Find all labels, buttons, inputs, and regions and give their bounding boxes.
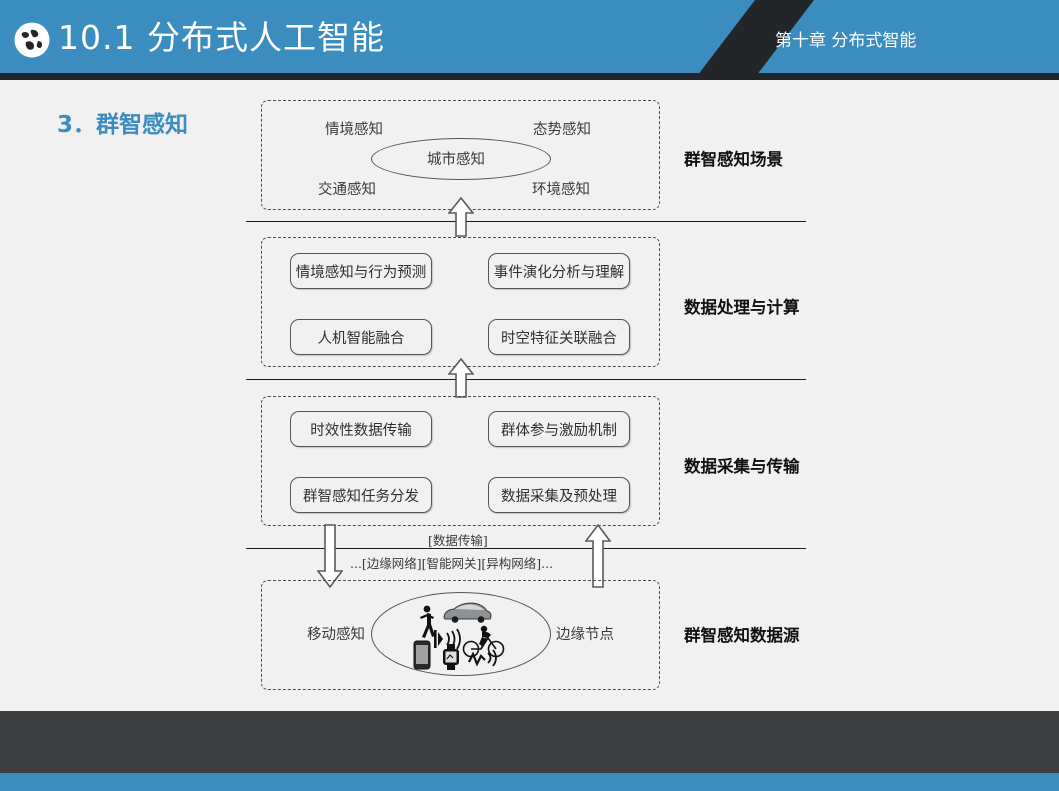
arrow-up-to-processing	[448, 358, 474, 398]
collection-box-4[interactable]: 数据采集及预处理	[488, 477, 630, 513]
signal-wave-icon	[468, 648, 502, 668]
scene-label-city: 城市感知	[427, 148, 485, 169]
processing-box-1[interactable]: 情境感知与行为预测	[290, 253, 432, 289]
source-label-mobile-sensing: 移动感知	[307, 623, 365, 644]
arrow-up-from-source	[585, 524, 611, 588]
scene-label-environment: 环境感知	[532, 178, 590, 199]
band-label-source: 群智感知数据源	[684, 622, 800, 646]
footer-dark-band	[0, 711, 1059, 773]
band-divider-2	[246, 379, 806, 380]
transport-label-top: [数据传输]	[428, 530, 488, 549]
smartwatch-icon	[441, 644, 461, 670]
collection-box-1[interactable]: 时效性数据传输	[290, 411, 432, 447]
collection-box-3[interactable]: 群智感知任务分发	[290, 477, 432, 513]
slide-root: 10.1 分布式人工智能 第十章 分布式智能 3．群智感知 群智感知场景 数据处…	[0, 0, 1059, 791]
car-icon	[441, 601, 493, 625]
footer-blue-band	[0, 773, 1059, 791]
collection-box-2[interactable]: 群体参与激励机制	[488, 411, 630, 447]
source-label-edge-node: 边缘节点	[556, 623, 614, 644]
scene-label-situation: 态势感知	[533, 118, 591, 139]
scene-label-context: 情境感知	[325, 118, 383, 139]
band-divider-1	[246, 221, 806, 222]
processing-box-2[interactable]: 事件演化分析与理解	[488, 253, 630, 289]
smartphone-icon	[413, 640, 431, 670]
band-label-scene: 群智感知场景	[684, 146, 783, 170]
processing-box-3[interactable]: 人机智能融合	[290, 319, 432, 355]
arrow-down-to-source	[317, 524, 343, 588]
band-label-collection: 数据采集与传输	[684, 453, 800, 477]
crowd-sensing-architecture-diagram: 群智感知场景 数据处理与计算 数据采集与传输 群智感知数据源 情境感知 态势感知…	[0, 0, 1059, 791]
band-label-processing: 数据处理与计算	[684, 294, 800, 318]
scene-label-traffic: 交通感知	[318, 178, 376, 199]
arrow-up-to-scene	[448, 197, 474, 237]
transport-label-bottom: ...[边缘网络][智能网关][异构网络]...	[350, 553, 553, 572]
processing-box-4[interactable]: 时空特征关联融合	[488, 319, 630, 355]
